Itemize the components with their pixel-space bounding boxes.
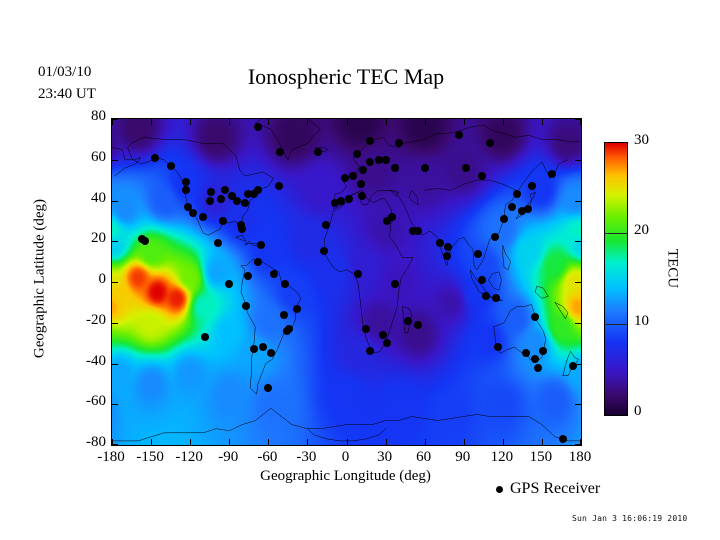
gps-receiver-marker	[443, 252, 451, 260]
x-tick-mark	[151, 439, 152, 445]
gps-receiver-marker	[353, 150, 361, 158]
y-axis-label: Geographic Latitude (deg)	[32, 169, 49, 389]
gps-receiver-marker	[531, 313, 539, 321]
x-tick-mark	[425, 119, 426, 125]
y-tick-mark	[575, 201, 581, 202]
gps-receiver-marker	[528, 182, 536, 190]
gps-receiver-marker	[462, 164, 470, 172]
gps-receiver-marker	[264, 384, 272, 392]
gps-receiver-marker	[391, 280, 399, 288]
x-tick-mark	[151, 119, 152, 125]
gps-receiver-marker	[500, 215, 508, 223]
x-tick-mark	[229, 119, 230, 125]
y-tick-mark	[575, 323, 581, 324]
colorbar-tick-label: 30	[634, 132, 649, 149]
observation-timestamp: 01/03/10 23:40 UT	[38, 62, 96, 106]
y-tick-mark	[112, 444, 118, 445]
x-tick-mark	[229, 439, 230, 445]
gps-receiver-marker	[167, 162, 175, 170]
gps-receiver-marker	[283, 327, 291, 335]
gps-receiver-marker	[238, 225, 246, 233]
gps-receiver-marker	[322, 221, 330, 229]
gps-receiver-marker	[474, 250, 482, 258]
x-tick-label: 180	[550, 449, 610, 466]
map-plot-area	[111, 118, 582, 446]
gps-receiver-marker	[206, 197, 214, 205]
y-tick-label: -60	[60, 393, 106, 410]
gps-receiver-marker	[366, 137, 374, 145]
gps-receiver-marker	[444, 243, 452, 251]
gps-receiver-marker	[534, 364, 542, 372]
x-tick-mark	[190, 119, 191, 125]
gps-receiver-marker	[242, 302, 250, 310]
gps-receiver-marker	[199, 213, 207, 221]
gps-receiver-marker	[513, 190, 521, 198]
gps-receiver-marker	[524, 205, 532, 213]
gps-receiver-marker	[250, 345, 258, 353]
gps-receiver-marker	[280, 311, 288, 319]
y-tick-label: 80	[60, 108, 106, 125]
observation-time: 23:40 UT	[38, 84, 96, 106]
gps-receiver-marker	[275, 182, 283, 190]
y-tick-mark	[112, 119, 118, 120]
gps-receiver-marker	[491, 233, 499, 241]
gps-receiver-marker	[189, 209, 197, 217]
x-tick-mark	[464, 439, 465, 445]
gps-receiver-marker	[404, 317, 412, 325]
gps-receiver-marker	[345, 195, 353, 203]
x-tick-mark	[386, 119, 387, 125]
x-tick-mark	[542, 119, 543, 125]
gps-receiver-marker	[151, 154, 159, 162]
gps-receiver-marker	[455, 131, 463, 139]
gps-receiver-marker	[293, 305, 301, 313]
colorbar-gradient	[605, 143, 627, 415]
gps-receiver-marker	[254, 258, 262, 266]
x-tick-mark	[190, 439, 191, 445]
gps-receiver-marker	[141, 237, 149, 245]
gps-receiver-marker	[478, 172, 486, 180]
gps-receiver-marker	[383, 339, 391, 347]
gps-receiver-marker	[486, 139, 494, 147]
gps-receiver-marker	[341, 174, 349, 182]
y-tick-mark	[575, 119, 581, 120]
colorbar	[604, 142, 628, 416]
gps-receiver-marker	[259, 343, 267, 351]
gps-receiver-marker	[314, 148, 322, 156]
tec-map-figure: 01/03/10 23:40 UT Ionospheric TEC Map Ge…	[0, 0, 720, 540]
gps-receiver-marker	[395, 139, 403, 147]
x-tick-mark	[307, 439, 308, 445]
observation-date: 01/03/10	[38, 62, 96, 84]
gps-receiver-marker	[482, 292, 490, 300]
y-tick-mark	[112, 160, 118, 161]
gps-receiver-marker	[241, 199, 249, 207]
y-tick-label: -20	[60, 312, 106, 329]
gps-receiver-marker	[366, 158, 374, 166]
y-tick-mark	[575, 404, 581, 405]
gps-receiver-marker	[359, 166, 367, 174]
colorbar-tick-label: 0	[634, 403, 642, 420]
gps-receiver-marker	[214, 239, 222, 247]
y-tick-mark	[112, 201, 118, 202]
colorbar-label: TECU	[664, 209, 681, 329]
gps-receiver-marker	[492, 294, 500, 302]
gps-receiver-dot-icon	[496, 486, 503, 493]
y-tick-mark	[575, 282, 581, 283]
gps-receiver-layer	[112, 119, 581, 445]
render-timestamp: Sun Jan 3 16:06:19 2010	[572, 514, 687, 523]
y-tick-mark	[575, 444, 581, 445]
y-tick-label: 20	[60, 230, 106, 247]
y-tick-mark	[112, 282, 118, 283]
gps-receiver-marker	[270, 270, 278, 278]
x-tick-mark	[503, 439, 504, 445]
gps-receiver-marker	[281, 280, 289, 288]
gps-receiver-marker	[320, 247, 328, 255]
x-tick-mark	[307, 119, 308, 125]
gps-receiver-marker	[182, 186, 190, 194]
gps-receiver-marker	[559, 435, 567, 443]
x-tick-mark	[542, 439, 543, 445]
gps-receiver-marker	[254, 186, 262, 194]
gps-receiver-marker	[388, 213, 396, 221]
y-tick-mark	[112, 323, 118, 324]
y-tick-label: 0	[60, 271, 106, 288]
x-tick-mark	[386, 439, 387, 445]
y-tick-mark	[112, 404, 118, 405]
gps-receiver-marker	[349, 172, 357, 180]
x-tick-mark	[268, 439, 269, 445]
y-tick-mark	[575, 364, 581, 365]
x-tick-mark	[503, 119, 504, 125]
legend-label: GPS Receiver	[510, 480, 600, 498]
gps-receiver-marker	[494, 343, 502, 351]
gps-receiver-marker	[414, 227, 422, 235]
gps-receiver-marker	[478, 276, 486, 284]
y-tick-mark	[575, 160, 581, 161]
gps-receiver-marker	[357, 180, 365, 188]
x-tick-mark	[268, 119, 269, 125]
colorbar-tick-mark	[605, 233, 627, 234]
gps-receiver-marker	[257, 241, 265, 249]
colorbar-tick-label: 10	[634, 313, 649, 330]
gps-receiver-marker	[508, 203, 516, 211]
x-tick-mark	[425, 439, 426, 445]
gps-receiver-marker	[233, 197, 241, 205]
x-tick-mark	[347, 119, 348, 125]
gps-receiver-marker	[358, 192, 366, 200]
gps-receiver-marker	[337, 197, 345, 205]
gps-receiver-marker	[379, 331, 387, 339]
gps-receiver-marker	[182, 178, 190, 186]
gps-receiver-marker	[217, 195, 225, 203]
gps-receiver-marker	[267, 349, 275, 357]
x-tick-mark	[347, 439, 348, 445]
gps-receiver-marker	[539, 347, 547, 355]
y-tick-mark	[112, 364, 118, 365]
gps-receiver-marker	[254, 123, 262, 131]
gps-receiver-marker	[414, 321, 422, 329]
y-tick-label: 60	[60, 149, 106, 166]
gps-receiver-marker	[421, 164, 429, 172]
gps-receiver-marker	[531, 355, 539, 363]
x-tick-mark	[464, 119, 465, 125]
gps-receiver-marker	[244, 272, 252, 280]
page-title: Ionospheric TEC Map	[111, 64, 581, 90]
gps-receiver-marker	[391, 164, 399, 172]
gps-receiver-marker	[362, 325, 370, 333]
y-tick-label: -80	[60, 434, 106, 451]
colorbar-tick-mark	[605, 324, 627, 325]
gps-receiver-marker	[522, 349, 530, 357]
y-tick-label: 40	[60, 190, 106, 207]
gps-receiver-marker	[201, 333, 209, 341]
gps-receiver-marker	[354, 270, 362, 278]
gps-receiver-marker	[366, 347, 374, 355]
y-tick-mark	[112, 241, 118, 242]
y-tick-label: -40	[60, 353, 106, 370]
y-tick-mark	[575, 241, 581, 242]
gps-receiver-marker	[382, 156, 390, 164]
gps-receiver-marker	[219, 217, 227, 225]
gps-receiver-marker	[276, 148, 284, 156]
gps-receiver-marker	[207, 188, 215, 196]
gps-receiver-marker	[225, 280, 233, 288]
colorbar-tick-label: 20	[634, 222, 649, 239]
legend: GPS Receiver	[496, 480, 600, 498]
gps-receiver-marker	[436, 239, 444, 247]
gps-receiver-marker	[548, 170, 556, 178]
